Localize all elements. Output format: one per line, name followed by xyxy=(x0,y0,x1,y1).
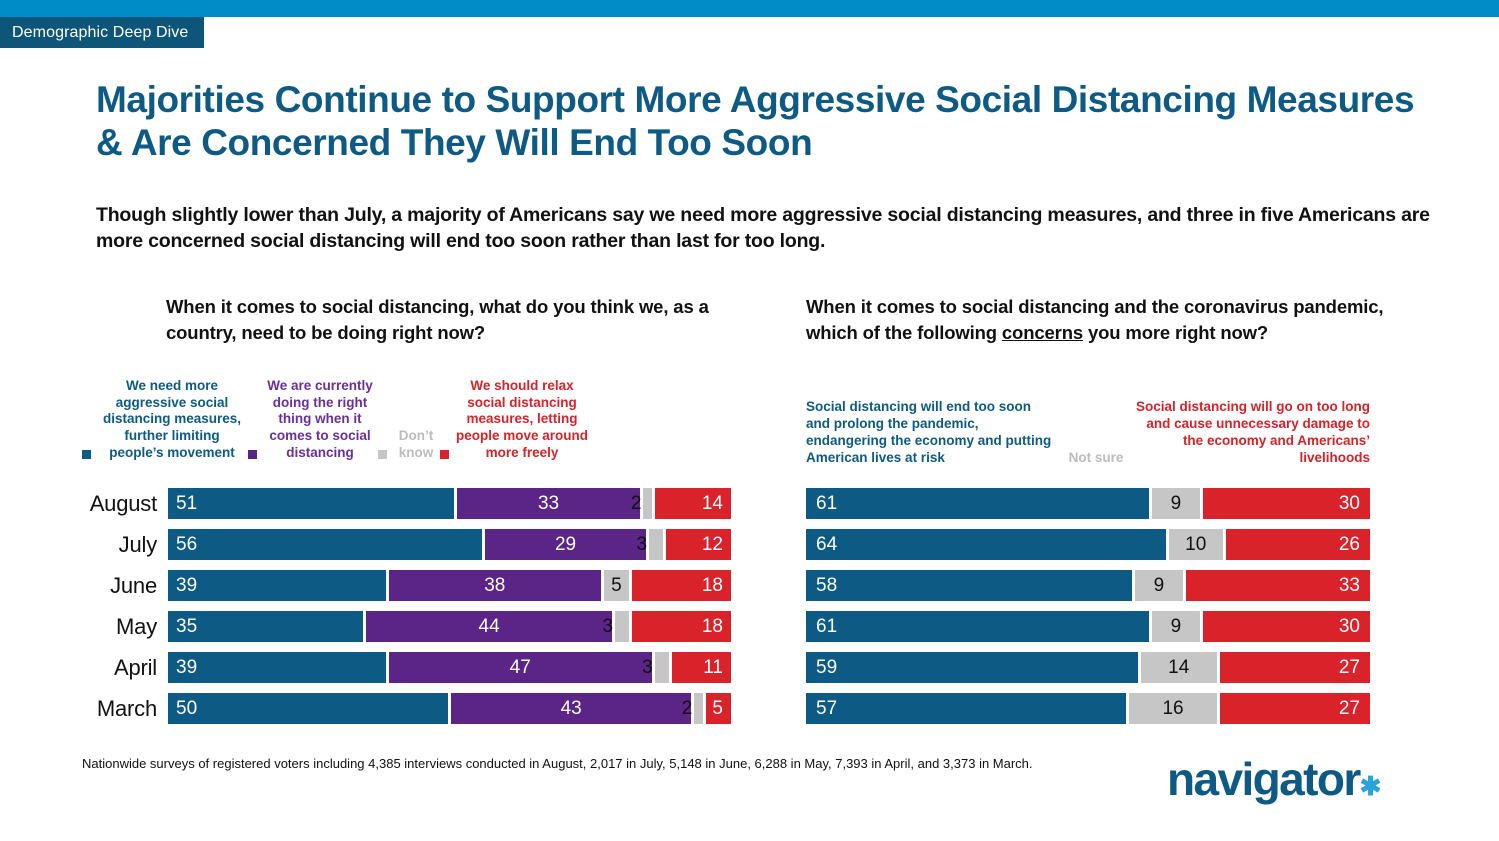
legend-swatch-icon xyxy=(378,450,387,459)
bar-value: 27 xyxy=(1339,698,1370,720)
bar-value: 3 xyxy=(642,657,655,679)
left-chart-legend: We need more aggressive social distancin… xyxy=(82,378,742,462)
bar-segment-red: 12 xyxy=(666,529,731,560)
bar-segment-blue: 39 xyxy=(168,570,386,601)
bar-segment-blue: 57 xyxy=(806,693,1126,724)
bar-segment-blue: 58 xyxy=(806,570,1132,601)
bar-segment-red: 5 xyxy=(706,693,731,724)
bar-segment-blue: 59 xyxy=(806,652,1138,683)
bar-segment-gray: 3 xyxy=(615,611,629,642)
chart-row: 641026 xyxy=(806,524,1406,565)
footnote: Nationwide surveys of registered voters … xyxy=(82,755,1142,772)
bar-value: 33 xyxy=(538,493,559,515)
bar-segment-purple: 38 xyxy=(389,570,601,601)
bar-track: 5629312 xyxy=(168,529,742,560)
bar-value: 2 xyxy=(631,493,644,515)
bar-value: 59 xyxy=(806,657,837,679)
bar-segment-red: 30 xyxy=(1203,488,1370,519)
bar-value: 39 xyxy=(168,657,197,679)
bar-segment-red: 33 xyxy=(1186,570,1370,601)
chart-row: May3544318 xyxy=(82,606,742,647)
bar-value: 56 xyxy=(168,534,197,556)
legend-item-right-thing: We are currently doing the right thing w… xyxy=(248,378,378,462)
bar-value: 18 xyxy=(702,575,731,597)
right-chart-question: When it comes to social distancing and t… xyxy=(806,294,1406,347)
bar-segment-blue: 61 xyxy=(806,488,1149,519)
chart-row: 591427 xyxy=(806,647,1406,688)
row-label-march: March xyxy=(82,696,168,722)
bar-value: 39 xyxy=(168,575,197,597)
chart-row: 61930 xyxy=(806,483,1406,524)
bar-segment-gray: 2 xyxy=(694,693,702,724)
left-chart-question: When it comes to social distancing, what… xyxy=(82,294,742,347)
bar-value: 12 xyxy=(702,534,731,556)
row-label-july: July xyxy=(82,532,168,558)
bar-segment-red: 18 xyxy=(632,611,731,642)
question-emphasis: concerns xyxy=(1002,322,1083,343)
bar-value: 5 xyxy=(611,575,622,597)
bar-value: 3 xyxy=(603,616,616,638)
navigator-logo: navigator✱ xyxy=(1167,752,1380,806)
bar-segment-blue: 39 xyxy=(168,652,386,683)
chart-row: August5133214 xyxy=(82,483,742,524)
bar-segment-gray: 2 xyxy=(643,488,651,519)
bar-track: 3947311 xyxy=(168,652,742,683)
legend-label: We need more aggressive social distancin… xyxy=(96,378,248,462)
bar-track: 61930 xyxy=(806,611,1406,642)
bar-segment-gray: 14 xyxy=(1141,652,1217,683)
bar-segment-red: 11 xyxy=(672,652,731,683)
left-chart: August5133214July5629312June3938518May35… xyxy=(82,483,742,729)
chart-row: April3947311 xyxy=(82,647,742,688)
legend-item-more-aggressive: We need more aggressive social distancin… xyxy=(82,378,248,462)
row-label-april: April xyxy=(82,655,168,681)
bar-segment-gray: 16 xyxy=(1129,693,1217,724)
bar-value: 30 xyxy=(1339,616,1370,638)
bar-segment-gray: 3 xyxy=(649,529,663,560)
bar-value: 29 xyxy=(555,534,576,556)
left-chart-question-block: When it comes to social distancing, what… xyxy=(82,294,742,347)
bar-segment-blue: 35 xyxy=(168,611,363,642)
bar-value: 51 xyxy=(168,493,197,515)
bar-segment-red: 18 xyxy=(632,570,731,601)
legend-item-go-on-too-long: Social distancing will go on too long an… xyxy=(1136,398,1370,467)
section-tag: Demographic Deep Dive xyxy=(0,17,204,48)
bar-track: 61930 xyxy=(806,488,1406,519)
bar-value: 50 xyxy=(168,698,197,720)
bar-segment-gray: 9 xyxy=(1152,488,1200,519)
bar-value: 14 xyxy=(702,493,731,515)
chart-row: March504325 xyxy=(82,688,742,729)
bar-segment-blue: 64 xyxy=(806,529,1166,560)
chart-row: July5629312 xyxy=(82,524,742,565)
bar-track: 3544318 xyxy=(168,611,742,642)
chart-row: 571627 xyxy=(806,688,1406,729)
legend-label: We are currently doing the right thing w… xyxy=(262,378,378,462)
bar-segment-gray: 10 xyxy=(1169,529,1223,560)
bar-value: 9 xyxy=(1171,493,1182,515)
bar-value: 18 xyxy=(702,616,731,638)
bar-segment-red: 14 xyxy=(655,488,731,519)
bar-value: 2 xyxy=(682,698,695,720)
bar-segment-purple: 29 xyxy=(485,529,646,560)
bar-value: 43 xyxy=(561,698,582,720)
bar-value: 38 xyxy=(484,575,505,597)
bar-segment-blue: 61 xyxy=(806,611,1149,642)
right-chart-question-block: When it comes to social distancing and t… xyxy=(806,294,1406,347)
right-chart: 619306410265893361930591427571627 xyxy=(806,483,1406,729)
bar-track: 571627 xyxy=(806,693,1406,724)
bar-value: 26 xyxy=(1339,534,1370,556)
bar-value: 58 xyxy=(806,575,837,597)
legend-item-relax: We should relax social distancing measur… xyxy=(440,378,590,462)
bar-value: 16 xyxy=(1162,698,1183,720)
bar-segment-blue: 51 xyxy=(168,488,454,519)
bar-value: 57 xyxy=(806,698,837,720)
chart-row: 61930 xyxy=(806,606,1406,647)
bar-track: 641026 xyxy=(806,529,1406,560)
right-chart-legend: Social distancing will end too soon and … xyxy=(806,398,1406,467)
accent-top-bar xyxy=(0,0,1499,17)
logo-text: navigator xyxy=(1167,753,1360,805)
bar-value: 35 xyxy=(168,616,197,638)
bar-value: 27 xyxy=(1339,657,1370,679)
bar-segment-purple: 47 xyxy=(389,652,652,683)
asterisk-icon: ✱ xyxy=(1360,771,1380,801)
bar-track: 3938518 xyxy=(168,570,742,601)
bar-track: 591427 xyxy=(806,652,1406,683)
bar-segment-red: 26 xyxy=(1226,529,1370,560)
bar-value: 44 xyxy=(479,616,500,638)
bar-value: 61 xyxy=(806,493,837,515)
bar-segment-purple: 44 xyxy=(366,611,612,642)
legend-label: We should relax social distancing measur… xyxy=(454,378,590,462)
bar-segment-red: 30 xyxy=(1203,611,1370,642)
bar-value: 9 xyxy=(1154,575,1165,597)
bar-segment-gray: 9 xyxy=(1135,570,1183,601)
bar-segment-blue: 50 xyxy=(168,693,448,724)
page-title: Majorities Continue to Support More Aggr… xyxy=(96,78,1426,165)
legend-item-end-too-soon: Social distancing will end too soon and … xyxy=(806,398,1056,467)
bar-value: 47 xyxy=(510,657,531,679)
legend-item-not-sure: Not sure xyxy=(1056,449,1136,466)
row-label-june: June xyxy=(82,573,168,599)
chart-row: 58933 xyxy=(806,565,1406,606)
bar-value: 9 xyxy=(1171,616,1182,638)
bar-value: 14 xyxy=(1168,657,1189,679)
bar-segment-gray: 5 xyxy=(604,570,629,601)
bar-value: 64 xyxy=(806,534,837,556)
bar-value: 33 xyxy=(1339,575,1370,597)
legend-swatch-icon xyxy=(82,450,91,459)
bar-value: 5 xyxy=(712,698,731,720)
legend-label: Don’t know xyxy=(392,428,440,461)
chart-row: June3938518 xyxy=(82,565,742,606)
bar-value: 61 xyxy=(806,616,837,638)
legend-item-dont-know: Don’t know xyxy=(378,428,440,461)
bar-segment-gray: 3 xyxy=(655,652,669,683)
page-subtitle: Though slightly lower than July, a major… xyxy=(96,203,1456,254)
bar-value: 3 xyxy=(637,534,650,556)
row-label-august: August xyxy=(82,491,168,517)
bar-segment-purple: 43 xyxy=(451,693,691,724)
bar-track: 5133214 xyxy=(168,488,742,519)
bar-segment-red: 27 xyxy=(1220,652,1370,683)
bar-value: 30 xyxy=(1339,493,1370,515)
bar-track: 58933 xyxy=(806,570,1406,601)
bar-track: 504325 xyxy=(168,693,742,724)
row-label-may: May xyxy=(82,614,168,640)
bar-segment-blue: 56 xyxy=(168,529,482,560)
question-text-part2: you more right now? xyxy=(1083,322,1268,343)
bar-segment-red: 27 xyxy=(1220,693,1370,724)
bar-segment-purple: 33 xyxy=(457,488,641,519)
legend-swatch-icon xyxy=(248,450,257,459)
bar-value: 11 xyxy=(703,657,731,679)
bar-value: 10 xyxy=(1185,534,1206,556)
bar-segment-gray: 9 xyxy=(1152,611,1200,642)
legend-swatch-icon xyxy=(440,450,449,459)
